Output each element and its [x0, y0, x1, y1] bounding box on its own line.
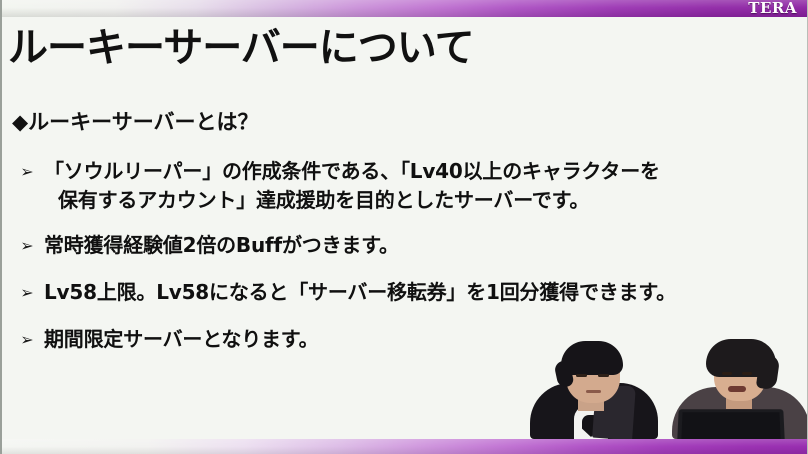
presenter-left-bandana [561, 341, 623, 375]
presenter-left-mouth [586, 390, 601, 393]
list-item-text: 「ソウルリーパー」の作成条件である、「Lv40以上のキャラクターを 保有するアカ… [44, 157, 800, 215]
tera-logo: TERA [748, 0, 797, 17]
presenter-left-eye [576, 374, 587, 377]
presenter-right-hair [706, 339, 776, 377]
arrow-bullet-icon: ➢ [10, 325, 44, 354]
list-item-line: 保有するアカウント」達成援助を目的としたサーバーです。 [44, 186, 800, 215]
list-item-text: 常時獲得経験値2倍のBuffがつきます。 [44, 231, 800, 260]
presenter-right-mouth [728, 386, 746, 392]
list-item-text: Lv58上限。Lv58になると「サーバー移転券」を1回分獲得できます。 [44, 278, 800, 307]
presenter-left [528, 336, 660, 439]
laptop [677, 409, 784, 439]
arrow-bullet-icon: ➢ [10, 278, 44, 307]
presenter-left-eye [598, 374, 609, 377]
arrow-bullet-icon: ➢ [10, 157, 44, 186]
bottom-band-gloss [2, 439, 808, 454]
presenter-right-eye [742, 372, 752, 375]
video-overlay [522, 336, 808, 439]
top-band-gloss [2, 0, 808, 17]
list-item-line: 「ソウルリーパー」の作成条件である、「Lv40以上のキャラクターを [44, 157, 800, 186]
bullet-list: ➢ 「ソウルリーパー」の作成条件である、「Lv40以上のキャラクターを 保有する… [10, 157, 800, 354]
section-heading: ◆ルーキーサーバーとは？ [12, 109, 259, 135]
list-item: ➢ 常時獲得経験値2倍のBuffがつきます。 [10, 231, 800, 260]
list-item: ➢ Lv58上限。Lv58になると「サーバー移転券」を1回分獲得できます。 [10, 278, 800, 307]
presenter-right-eye [722, 372, 732, 375]
presenter-right [672, 336, 808, 439]
arrow-bullet-icon: ➢ [10, 231, 44, 260]
page-title: ルーキーサーバーについて [8, 24, 474, 72]
list-item-line: Lv58上限。Lv58になると「サーバー移転券」を1回分獲得できます。 [44, 278, 800, 307]
laptop-screen [681, 412, 780, 439]
presentation-slide: TERA ルーキーサーバーについて ◆ルーキーサーバーとは？ ➢ 「ソウルリーパ… [0, 0, 808, 454]
list-item: ➢ 「ソウルリーパー」の作成条件である、「Lv40以上のキャラクターを 保有する… [10, 157, 800, 215]
list-item-line: 常時獲得経験値2倍のBuffがつきます。 [44, 231, 800, 260]
